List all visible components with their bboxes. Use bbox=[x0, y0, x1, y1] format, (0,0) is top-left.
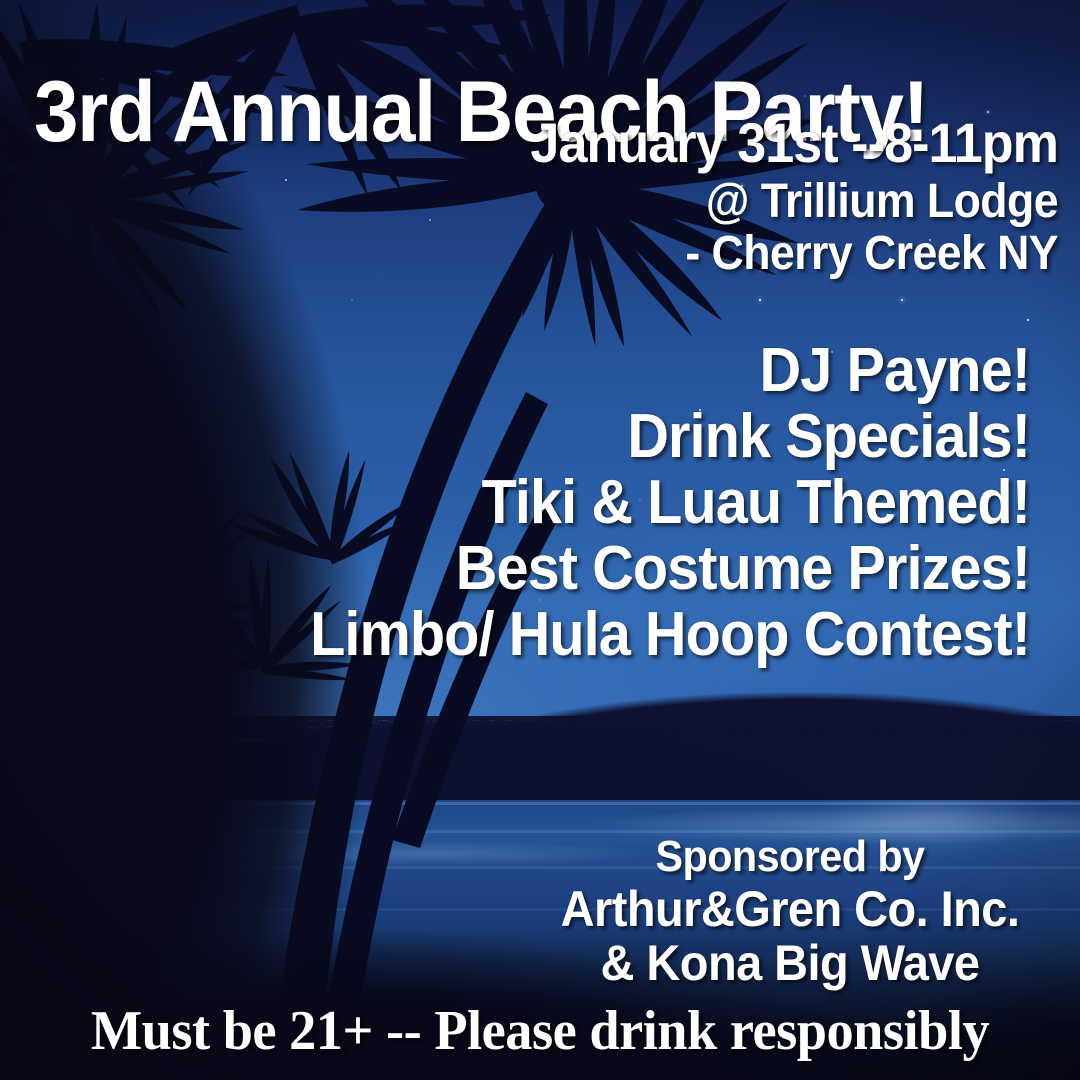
feature-item: DJ Payne! bbox=[137, 338, 1030, 404]
sponsor-name-2: & Kona Big Wave bbox=[522, 936, 1058, 990]
feature-item: Drink Specials! bbox=[137, 404, 1030, 470]
event-venue: @ Trillium Lodge - Cherry Creek NY bbox=[221, 176, 1058, 280]
venue-line-2: - Cherry Creek NY bbox=[221, 228, 1058, 280]
event-datetime: January 31st --8-11pm bbox=[221, 112, 1058, 174]
feature-item: Best Costume Prizes! bbox=[137, 536, 1030, 602]
beach-party-flyer: 3rd Annual Beach Party! January 31st --8… bbox=[0, 0, 1080, 1080]
venue-line-1: @ Trillium Lodge bbox=[221, 176, 1058, 228]
sponsor-name-1: Arthur&Gren Co. Inc. bbox=[522, 882, 1058, 936]
sponsor-block: Sponsored by Arthur&Gren Co. Inc. & Kona… bbox=[522, 832, 1058, 990]
feature-item: Tiki & Luau Themed! bbox=[137, 470, 1030, 536]
age-disclaimer: Must be 21+ -- Please drink responsibly bbox=[16, 1000, 1064, 1062]
feature-list: DJ Payne! Drink Specials! Tiki & Luau Th… bbox=[137, 338, 1030, 668]
feature-item: Limbo/ Hula Hoop Contest! bbox=[137, 602, 1030, 668]
sponsor-heading: Sponsored by bbox=[522, 832, 1058, 882]
